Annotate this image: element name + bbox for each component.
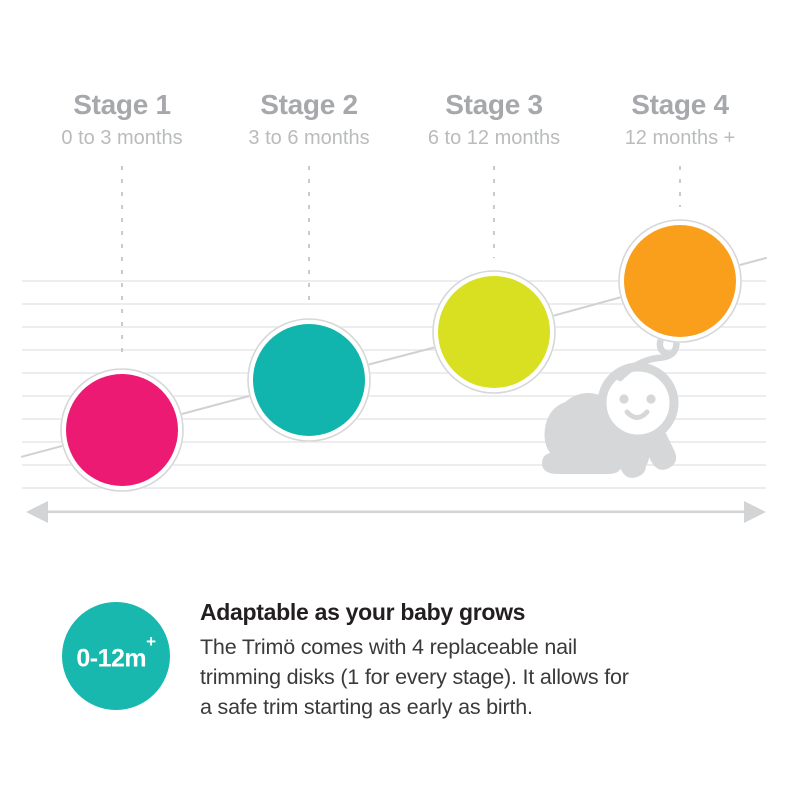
- age-range-badge-text: 0-12m+: [76, 643, 155, 671]
- description-line-3: a safe trim starting as early as birth.: [200, 692, 680, 722]
- age-range-badge: 0-12m+: [62, 602, 170, 710]
- description-body: The Trimö comes with 4 replaceable nail …: [200, 632, 680, 722]
- description-line-1: The Trimö comes with 4 replaceable nail: [200, 632, 680, 662]
- growth-stage-chart: [0, 0, 800, 560]
- description-block: Adaptable as your baby grows The Trimö c…: [200, 597, 680, 722]
- age-range-plus: +: [146, 632, 155, 651]
- timeline-arrow: [26, 501, 766, 523]
- age-range-value: 0-12m: [76, 644, 146, 672]
- stage-circle-4[interactable]: [624, 225, 736, 337]
- description-heading: Adaptable as your baby grows: [200, 597, 680, 627]
- stage-circle-3[interactable]: [438, 276, 550, 388]
- stage-circle-2[interactable]: [253, 324, 365, 436]
- stage-circle-1[interactable]: [66, 374, 178, 486]
- crawling-baby-icon: [542, 336, 676, 478]
- description-line-2: trimming disks (1 for every stage). It a…: [200, 662, 680, 692]
